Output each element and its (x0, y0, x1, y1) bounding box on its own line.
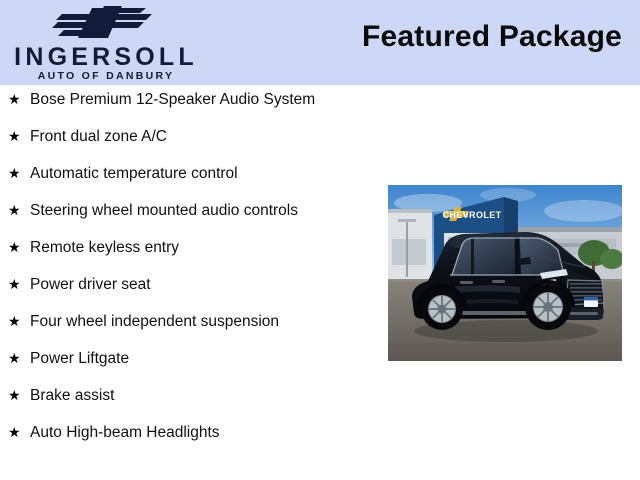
header-band: INGERSOLL AUTO OF DANBURY Featured Packa… (0, 0, 640, 85)
list-item-label: Power Liftgate (30, 347, 380, 369)
page-title: Featured Package (362, 20, 622, 54)
list-item: ★ Steering wheel mounted audio controls (0, 199, 380, 236)
list-item: ★ Power Liftgate (0, 347, 380, 384)
brand-logo-block: INGERSOLL AUTO OF DANBURY (0, 2, 210, 84)
list-item-label: Auto High-beam Headlights (30, 421, 380, 443)
list-item: ★ Remote keyless entry (0, 236, 380, 273)
list-item: ★ Four wheel independent suspension (0, 310, 380, 347)
list-item-label: Brake assist (30, 384, 380, 406)
star-bullet-icon: ★ (8, 236, 30, 258)
list-item: ★ Front dual zone A/C (0, 125, 380, 162)
dealership-sign-text: CHEVROLET (442, 210, 501, 220)
star-bullet-icon: ★ (8, 347, 30, 369)
list-item: ★ Power driver seat (0, 273, 380, 310)
rear-wheel (421, 288, 463, 330)
front-wheel (525, 284, 571, 330)
star-bullet-icon: ★ (8, 162, 30, 184)
list-item-label: Power driver seat (30, 273, 380, 295)
list-item: ★ Bose Premium 12-Speaker Audio System (0, 88, 380, 125)
feature-list: ★ Bose Premium 12-Speaker Audio System ★… (0, 88, 380, 458)
list-item: ★ Brake assist (0, 384, 380, 421)
list-item-label: Steering wheel mounted audio controls (30, 199, 380, 221)
list-item-label: Remote keyless entry (30, 236, 380, 258)
list-item-label: Front dual zone A/C (30, 125, 380, 147)
star-bullet-icon: ★ (8, 310, 30, 332)
list-item: ★ Automatic temperature control (0, 162, 380, 199)
brand-name: INGERSOLL (6, 44, 206, 70)
star-bullet-icon: ★ (8, 273, 30, 295)
list-item: ★ Auto High-beam Headlights (0, 421, 380, 458)
star-bullet-icon: ★ (8, 199, 30, 221)
star-bullet-icon: ★ (8, 384, 30, 406)
list-item-label: Bose Premium 12-Speaker Audio System (30, 88, 380, 110)
star-bullet-icon: ★ (8, 421, 30, 443)
star-bullet-icon: ★ (8, 88, 30, 110)
ingersoll-winged-emblem-icon (48, 4, 163, 42)
vehicle-photo: CHEVROLET (388, 185, 622, 361)
list-item-label: Automatic temperature control (30, 162, 380, 184)
list-item-label: Four wheel independent suspension (30, 310, 380, 332)
brand-subtitle: AUTO OF DANBURY (6, 70, 206, 82)
star-bullet-icon: ★ (8, 125, 30, 147)
